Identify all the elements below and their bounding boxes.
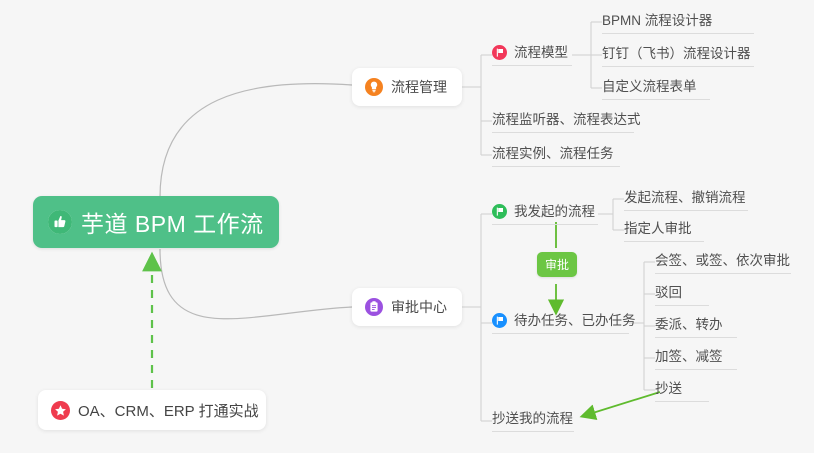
topic-bpmn-designer[interactable]: BPMN 流程设计器 xyxy=(602,12,754,34)
topic-reject[interactable]: 驳回 xyxy=(655,284,709,306)
topic-label: 抄送 xyxy=(655,380,682,397)
topic-start-cancel-process[interactable]: 发起流程、撤销流程 xyxy=(624,189,748,211)
topic-label: 待办任务、已办任务 xyxy=(514,312,636,329)
thumbs-up-icon xyxy=(48,210,72,234)
flag-icon xyxy=(492,313,507,328)
topic-label: 驳回 xyxy=(655,284,682,301)
topic-liucheng-moxing[interactable]: 流程模型 xyxy=(492,44,572,66)
topic-cc-to-me[interactable]: 抄送我的流程 xyxy=(492,410,574,432)
topic-add-remove-sign[interactable]: 加签、减签 xyxy=(655,348,737,370)
topic-cc[interactable]: 抄送 xyxy=(655,380,709,402)
topic-label: 我发起的流程 xyxy=(514,203,595,220)
topic-label: 加签、减签 xyxy=(655,348,723,365)
root-node[interactable]: 芋道 BPM 工作流 xyxy=(33,196,279,248)
root-label: 芋道 BPM 工作流 xyxy=(81,205,264,239)
branch-node-shenpi-zhongxin[interactable]: 审批中心 xyxy=(352,288,462,326)
clipboard-icon xyxy=(365,298,383,316)
topic-instance-task[interactable]: 流程实例、流程任务 xyxy=(492,145,620,167)
topic-label: 流程监听器、流程表达式 xyxy=(492,111,641,128)
topic-my-initiated[interactable]: 我发起的流程 xyxy=(492,203,598,225)
star-icon xyxy=(51,401,70,420)
topic-label: 钉钉（飞书）流程设计器 xyxy=(602,45,751,62)
topic-delegate-transfer[interactable]: 委派、转办 xyxy=(655,316,737,338)
lightbulb-icon xyxy=(365,78,383,96)
topic-label: 会签、或签、依次审批 xyxy=(655,252,790,269)
topic-label: BPMN 流程设计器 xyxy=(602,12,712,29)
mindmap-canvas: 芋道 BPM 工作流 流程管理 流程模型 BPMN 流程设计器 钉钉（飞书 xyxy=(0,0,814,453)
branch-label: 流程管理 xyxy=(391,77,447,97)
bottom-callout-label: OA、CRM、ERP 打通实战 xyxy=(78,400,259,421)
branch-node-liucheng-guanli[interactable]: 流程管理 xyxy=(352,68,462,106)
topic-label: 流程实例、流程任务 xyxy=(492,145,614,162)
topic-label: 自定义流程表单 xyxy=(602,78,697,95)
topic-label: 指定人审批 xyxy=(624,220,692,237)
topic-countersign[interactable]: 会签、或签、依次审批 xyxy=(655,252,791,274)
topic-label: 委派、转办 xyxy=(655,316,723,333)
approval-pill-label: 审批 xyxy=(537,252,577,277)
flag-icon xyxy=(492,45,507,60)
bottom-callout-card[interactable]: OA、CRM、ERP 打通实战 xyxy=(38,390,266,430)
topic-label: 流程模型 xyxy=(514,44,568,61)
flag-icon xyxy=(492,204,507,219)
topic-assignee-approval[interactable]: 指定人审批 xyxy=(624,220,704,242)
topic-custom-process-form[interactable]: 自定义流程表单 xyxy=(602,78,710,100)
topic-dingtalk-feishu-designer[interactable]: 钉钉（飞书）流程设计器 xyxy=(602,45,754,67)
branch-label: 审批中心 xyxy=(391,297,447,317)
topic-listener-expression[interactable]: 流程监听器、流程表达式 xyxy=(492,111,634,133)
topic-todo-done-tasks[interactable]: 待办任务、已办任务 xyxy=(492,312,629,334)
topic-label: 发起流程、撤销流程 xyxy=(624,189,746,206)
topic-label: 抄送我的流程 xyxy=(492,410,573,427)
